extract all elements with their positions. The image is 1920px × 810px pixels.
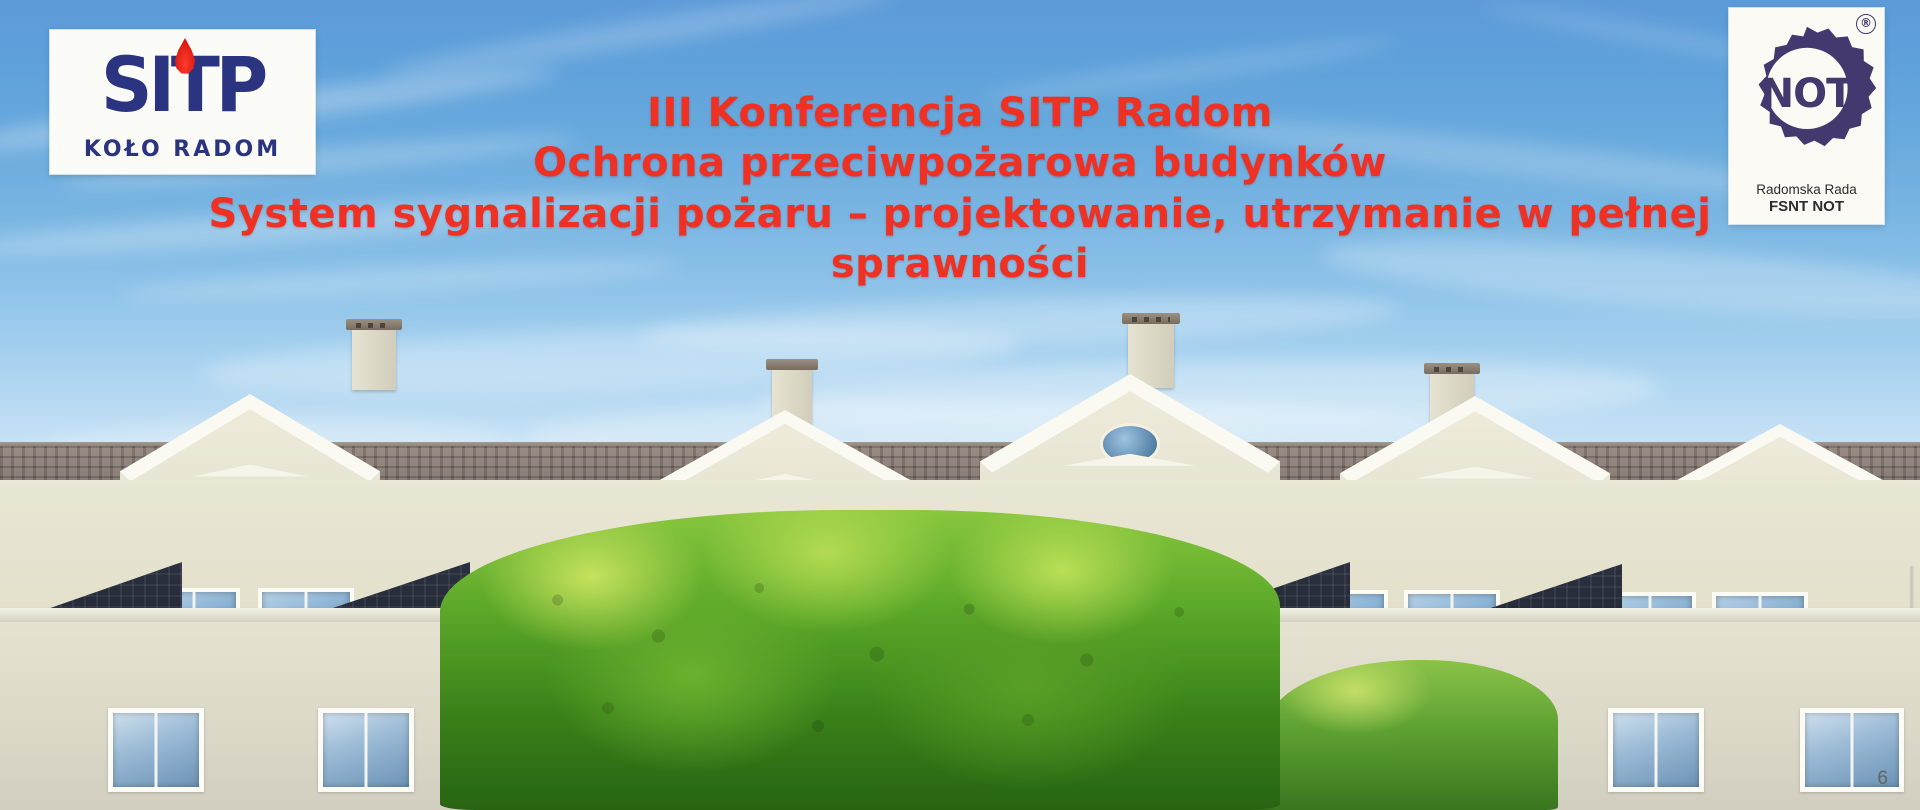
page-number: 6: [1877, 768, 1888, 790]
chimney: [352, 328, 396, 390]
title-line-3: System sygnalizacji pożaru – projektowan…: [0, 191, 1920, 237]
slide-title: III Konferencja SITP Radom Ochrona przec…: [0, 90, 1920, 288]
hedge-large: [440, 510, 1280, 810]
shrub-medium: [1268, 660, 1558, 810]
ground-window: [1800, 708, 1904, 792]
title-line-4: sprawności: [0, 241, 1920, 287]
title-line-1: III Konferencja SITP Radom: [0, 90, 1920, 136]
hotel-building-photo: Hotel Lord: [0, 380, 1920, 810]
ground-window: [1608, 708, 1704, 792]
ground-window: [108, 708, 204, 792]
ground-window: [318, 708, 414, 792]
title-line-2: Ochrona przeciwpożarowa budynków: [0, 140, 1920, 186]
conference-title-slide: Hotel Lord SITP KOŁO RADOM ® NOT: [0, 0, 1920, 810]
